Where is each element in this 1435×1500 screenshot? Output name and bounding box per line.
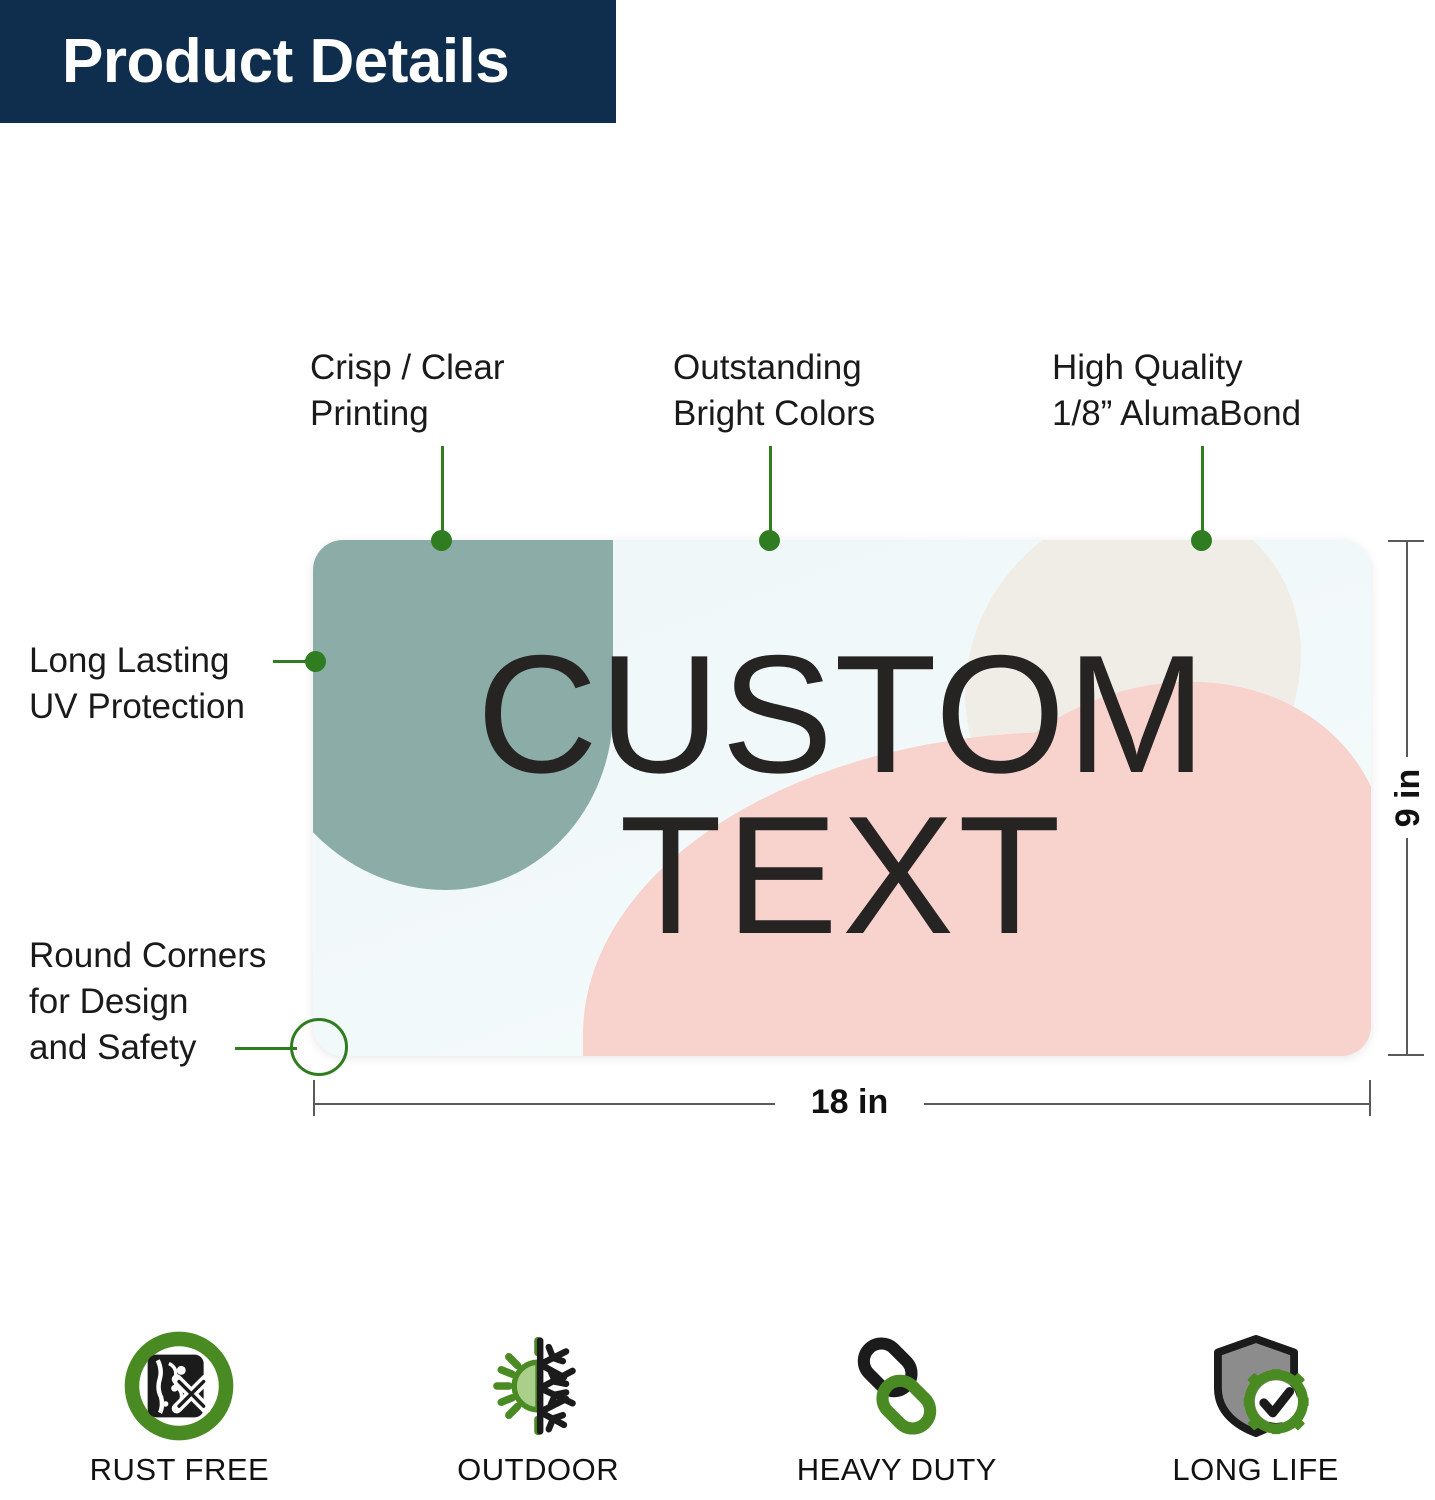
- feature-caption-outdoor: OUTDOOR: [457, 1452, 619, 1488]
- dimension-line-width-right: [924, 1103, 1370, 1105]
- callout-label-outstanding-bright-colors: Outstanding Bright Colors: [673, 345, 875, 437]
- dimension-cap-bottom: [1388, 1054, 1424, 1056]
- sign-custom-text: CUSTOM TEXT: [313, 540, 1371, 1056]
- sign-text-line-2: TEXT: [619, 795, 1064, 956]
- page-title: Product Details: [62, 31, 509, 93]
- callout-label-crisp-clear-printing: Crisp / Clear Printing: [310, 345, 504, 437]
- feature-rust-free: RUST FREE: [0, 1326, 359, 1500]
- dimension-line-height-lower: [1406, 838, 1408, 1054]
- dimension-line-height-upper: [1406, 541, 1408, 757]
- feature-caption-heavy-duty: HEAVY DUTY: [797, 1452, 997, 1488]
- callout-label-high-quality-alumabond: High Quality 1/8” AlumaBond: [1052, 345, 1301, 437]
- leader-line-alumabond: [1201, 446, 1204, 532]
- feature-caption-long-life: LONG LIFE: [1172, 1452, 1338, 1488]
- sign-text-line-1: CUSTOM: [477, 634, 1208, 795]
- heavy-duty-icon: [837, 1326, 957, 1446]
- leader-dot-alumabond: [1191, 530, 1212, 551]
- feature-heavy-duty: HEAVY DUTY: [718, 1326, 1077, 1500]
- callout-label-round-corners: Round Corners for Design and Safety: [29, 933, 266, 1072]
- leader-line-bright: [769, 446, 772, 532]
- leader-line-crisp: [441, 446, 444, 532]
- callout-label-long-lasting-uv-protection: Long Lasting UV Protection: [29, 638, 245, 730]
- leader-dot-crisp: [431, 530, 452, 551]
- leader-line-round-corner: [235, 1047, 297, 1050]
- dimension-label-height: 9 in: [1367, 768, 1435, 828]
- feature-long-life: LONG LIFE: [1076, 1326, 1435, 1500]
- dimension-cap-right: [1369, 1080, 1371, 1116]
- leader-dot-bright: [759, 530, 780, 551]
- dimension-line-width-left: [314, 1103, 775, 1105]
- outdoor-icon: [478, 1326, 598, 1446]
- leader-dot-uv: [305, 651, 326, 672]
- round-corner-highlight-ring: [290, 1018, 348, 1076]
- feature-caption-rust-free: RUST FREE: [90, 1452, 270, 1488]
- dimension-cap-left: [313, 1080, 315, 1116]
- header-banner: Product Details: [0, 0, 616, 123]
- feature-badge-row: RUST FREE: [0, 1326, 1435, 1500]
- product-details-infographic: Product Details CUSTOM TEXT Crisp / Clea…: [0, 0, 1435, 1500]
- dimension-label-width: 18 in: [775, 1083, 924, 1122]
- rust-free-icon: [119, 1326, 239, 1446]
- sign-preview: CUSTOM TEXT: [313, 540, 1371, 1056]
- feature-outdoor: OUTDOOR: [359, 1326, 718, 1500]
- long-life-icon: [1196, 1326, 1316, 1446]
